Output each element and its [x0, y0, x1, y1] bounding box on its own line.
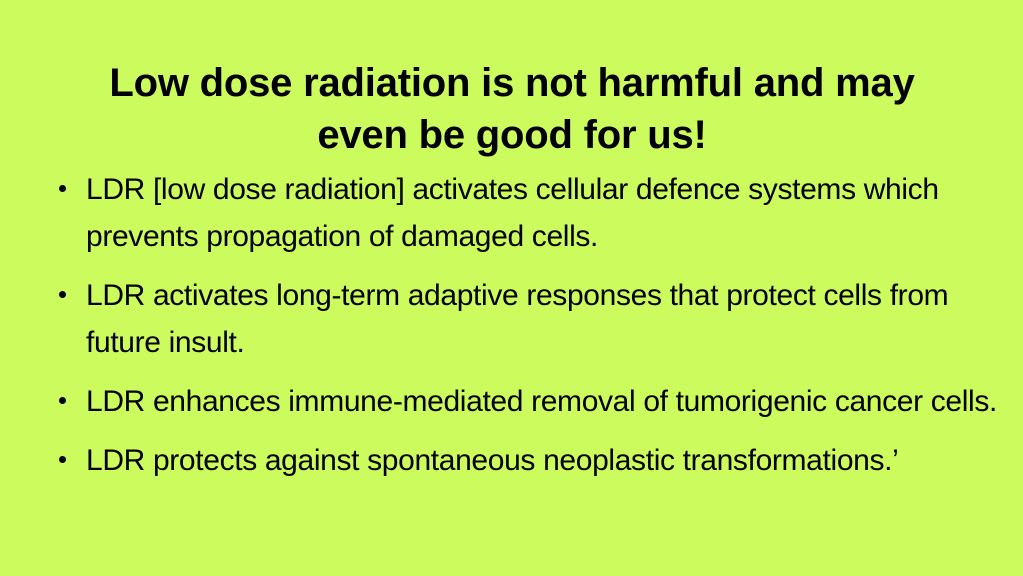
page-title: Low dose radiation is not harmful and ma… — [62, 57, 962, 161]
bullet-dot-icon — [59, 397, 66, 404]
bullet-dot-icon — [59, 456, 66, 463]
list-item-label: LDR activates long-term adaptive respons… — [86, 272, 1005, 366]
bullet-dot-icon — [59, 185, 66, 192]
list-item: LDR activates long-term adaptive respons… — [55, 272, 1005, 366]
list-item: LDR [low dose radiation] activates cellu… — [55, 166, 1005, 260]
bullet-dot-icon — [59, 291, 66, 298]
list-item: LDR enhances immune-mediated removal of … — [55, 378, 1005, 425]
list-item-label: LDR [low dose radiation] activates cellu… — [86, 166, 1005, 260]
list-item: LDR protects against spontaneous neoplas… — [55, 437, 1005, 484]
presentation-slide: Low dose radiation is not harmful and ma… — [0, 0, 1023, 576]
list-item-label: LDR protects against spontaneous neoplas… — [86, 437, 1005, 484]
bullet-list: LDR [low dose radiation] activates cellu… — [55, 166, 1005, 496]
list-item-label: LDR enhances immune-mediated removal of … — [86, 378, 1005, 425]
